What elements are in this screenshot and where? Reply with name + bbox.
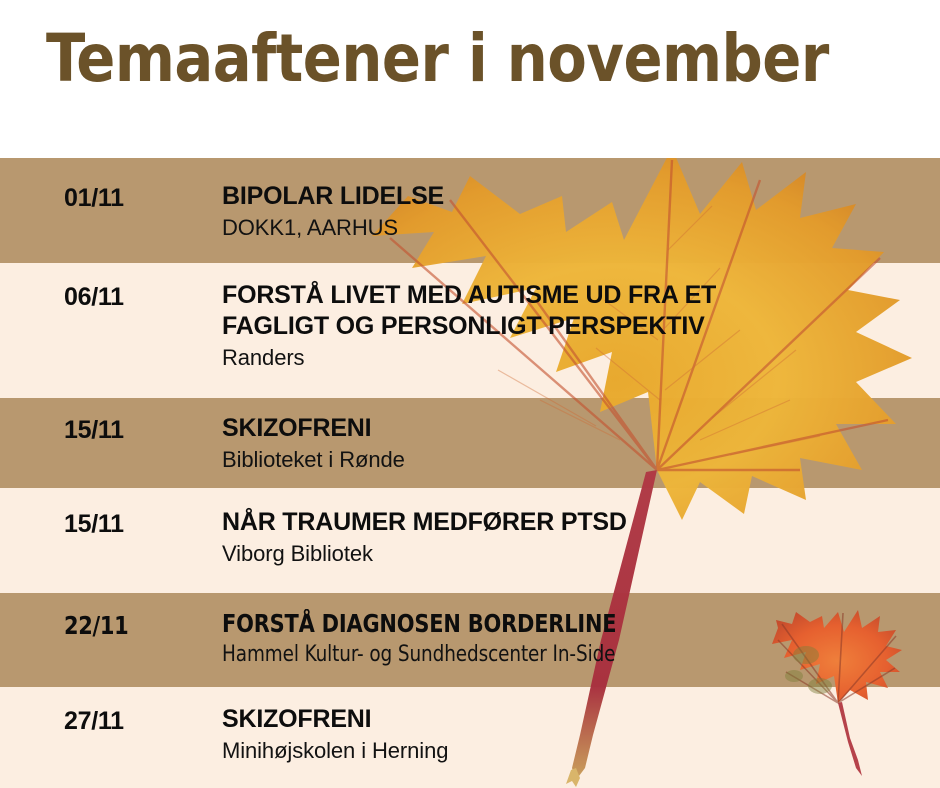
event-date: 22/11 <box>64 611 128 640</box>
event-date: 27/11 <box>64 707 124 736</box>
event-body: SKIZOFRENIBiblioteket i Rønde <box>222 413 932 473</box>
event-body: SKIZOFRENIMinihøjskolen i Herning <box>222 704 932 764</box>
event-title: SKIZOFRENI <box>222 413 932 444</box>
schedule-row: 22/11FORSTÅ DIAGNOSEN BORDERLINEHammel K… <box>0 593 940 687</box>
event-title: FORSTÅ LIVET MED AUTISME UD FRA ET FAGLI… <box>222 280 932 342</box>
event-venue: Viborg Bibliotek <box>222 541 932 567</box>
event-body: BIPOLAR LIDELSEDOKK1, AARHUS <box>222 181 932 241</box>
event-body: NÅR TRAUMER MEDFØRER PTSDViborg Bibliote… <box>222 507 932 567</box>
event-date: 15/11 <box>64 416 124 445</box>
title-area: Temaaftener i november <box>0 0 940 158</box>
schedule-row: 15/11SKIZOFRENIBiblioteket i Rønde <box>0 398 940 488</box>
event-date: 15/11 <box>64 510 124 539</box>
event-date: 06/11 <box>64 283 124 312</box>
event-venue: DOKK1, AARHUS <box>222 215 932 241</box>
poster-canvas: Temaaftener i november 01/11BIPOLAR LIDE… <box>0 0 940 788</box>
page-title: Temaaftener i november <box>46 26 829 92</box>
event-title: FORSTÅ DIAGNOSEN BORDERLINE <box>222 608 882 639</box>
event-title: SKIZOFRENI <box>222 704 932 735</box>
schedule-row: 06/11FORSTÅ LIVET MED AUTISME UD FRA ET … <box>0 263 940 398</box>
event-title: BIPOLAR LIDELSE <box>222 181 932 212</box>
schedule-row: 27/11SKIZOFRENIMinihøjskolen i Herning <box>0 687 940 788</box>
event-venue: Minihøjskolen i Herning <box>222 738 932 764</box>
event-venue: Biblioteket i Rønde <box>222 447 932 473</box>
event-body: FORSTÅ DIAGNOSEN BORDERLINEHammel Kultur… <box>222 608 932 668</box>
schedule-row: 01/11BIPOLAR LIDELSEDOKK1, AARHUS <box>0 158 940 263</box>
event-venue: Hammel Kultur- og Sundhedscenter In-Side <box>222 642 882 668</box>
event-title: NÅR TRAUMER MEDFØRER PTSD <box>222 507 932 538</box>
event-body: FORSTÅ LIVET MED AUTISME UD FRA ET FAGLI… <box>222 280 932 371</box>
event-date: 01/11 <box>64 184 124 213</box>
event-venue: Randers <box>222 345 932 371</box>
schedule-row: 15/11NÅR TRAUMER MEDFØRER PTSDViborg Bib… <box>0 488 940 593</box>
